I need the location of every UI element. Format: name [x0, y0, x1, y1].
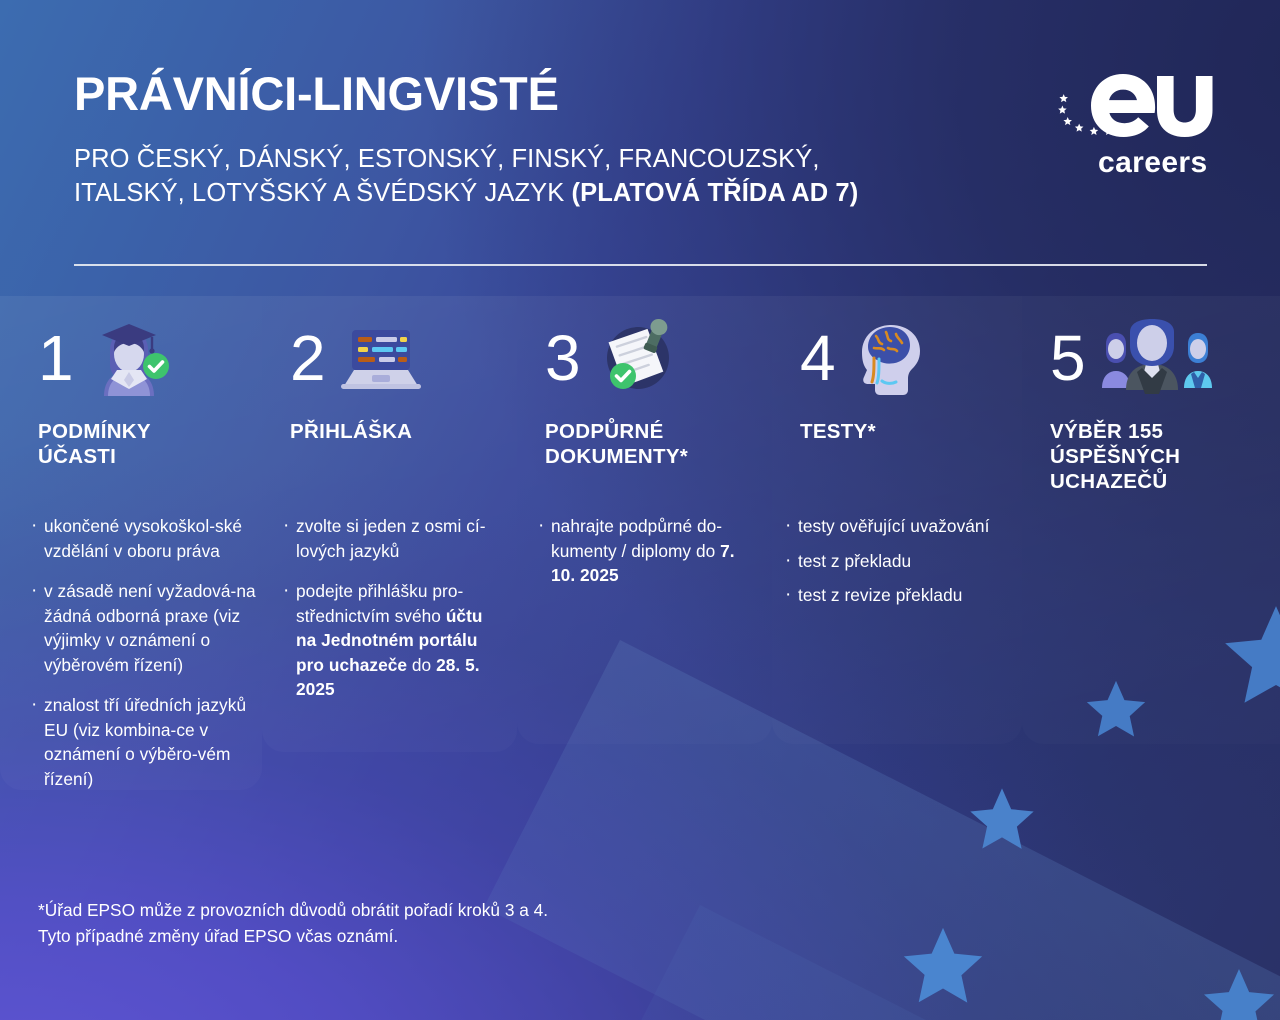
step-title-4: TESTY*	[800, 419, 1010, 444]
logo-tagline-text: careers	[1098, 146, 1208, 178]
bullet-item: podejte přihlášku pro-střednictvím svého…	[282, 579, 507, 702]
header-divider	[74, 264, 1207, 266]
step-bullets-4: testy ověřující uvažovánítest z překladu…	[784, 514, 1022, 618]
step-title-5: VÝBĚR 155 ÚSPĚŠNÝCH UCHAZEČŮ	[1050, 419, 1260, 494]
step-number-5: 5	[1050, 329, 1086, 388]
bullet-item: znalost tří úředních jazyků EU (viz komb…	[30, 693, 262, 791]
document-check-icon	[593, 318, 679, 398]
step-panel-4: 4	[772, 296, 1022, 744]
brain-head-icon	[848, 318, 934, 398]
graduate-icon	[86, 318, 172, 398]
eu-careers-logo: careers	[1046, 60, 1216, 178]
step-header-4: 4	[800, 318, 934, 398]
step-bullets-1: ukončené vysokoškol-ské vzdělání v oboru…	[30, 514, 262, 807]
step-panel-1: 1	[0, 296, 262, 790]
step-header-5: 5	[1050, 318, 1216, 398]
subtitle-grade: (PLATOVÁ TŘÍDA AD 7)	[572, 179, 859, 207]
step-header-1: 1	[38, 318, 172, 398]
step-title-3: PODPŮRNÉ DOKUMENTY*	[545, 419, 755, 469]
people-group-icon	[1098, 318, 1216, 398]
steps-container: 1	[0, 296, 1280, 826]
step-panel-5: 5	[1022, 296, 1280, 744]
footnote: *Úřad EPSO může z provozních důvodů obrá…	[38, 898, 738, 950]
laptop-icon	[338, 318, 424, 398]
subtitle-line-2-plain: ITALSKÝ, LOTYŠSKÝ A ŠVÉDSKÝ JAZYK	[74, 179, 572, 207]
bullet-item: ukončené vysokoškol-ské vzdělání v oboru…	[30, 514, 262, 563]
bullet-item: testy ověřující uvažování	[784, 514, 1022, 539]
bullet-item: zvolte si jeden z osmi cí-lových jazyků	[282, 514, 507, 563]
step-number-1: 1	[38, 329, 74, 388]
step-number-4: 4	[800, 329, 836, 388]
step-bullets-3: nahrajte podpůrné do-kumenty / diplomy d…	[537, 514, 763, 604]
step-header-2: 2	[290, 318, 424, 398]
step-bullets-2: zvolte si jeden z osmi cí-lových jazykůp…	[282, 514, 507, 718]
infographic-canvas: PRÁVNÍCI-LINGVISTÉ PRO ČESKÝ, DÁNSKÝ, ES…	[0, 0, 1280, 1020]
decorative-star	[1196, 962, 1280, 1020]
page-subtitle: PRO ČESKÝ, DÁNSKÝ, ESTONSKÝ, FINSKÝ, FRA…	[74, 143, 994, 211]
bullet-item: test z překladu	[784, 549, 1022, 574]
step-title-1: PODMÍNKY ÚČASTI	[38, 419, 248, 469]
step-title-2: PŘIHLÁŠKA	[290, 419, 500, 444]
bullet-item: nahrajte podpůrné do-kumenty / diplomy d…	[537, 514, 763, 588]
step-panel-3: 3	[517, 296, 772, 744]
decorative-star	[895, 920, 991, 1014]
subtitle-line-1: PRO ČESKÝ, DÁNSKÝ, ESTONSKÝ, FINSKÝ, FRA…	[74, 145, 820, 173]
step-number-2: 2	[290, 329, 326, 388]
step-header-3: 3	[545, 318, 679, 398]
step-number-3: 3	[545, 329, 581, 388]
page-title: PRÁVNÍCI-LINGVISTÉ	[74, 66, 559, 121]
step-panel-2: 2	[262, 296, 517, 752]
bullet-item: test z revize překladu	[784, 583, 1022, 608]
bullet-item: v zásadě není vyžadová-na žádná odborná …	[30, 579, 262, 677]
